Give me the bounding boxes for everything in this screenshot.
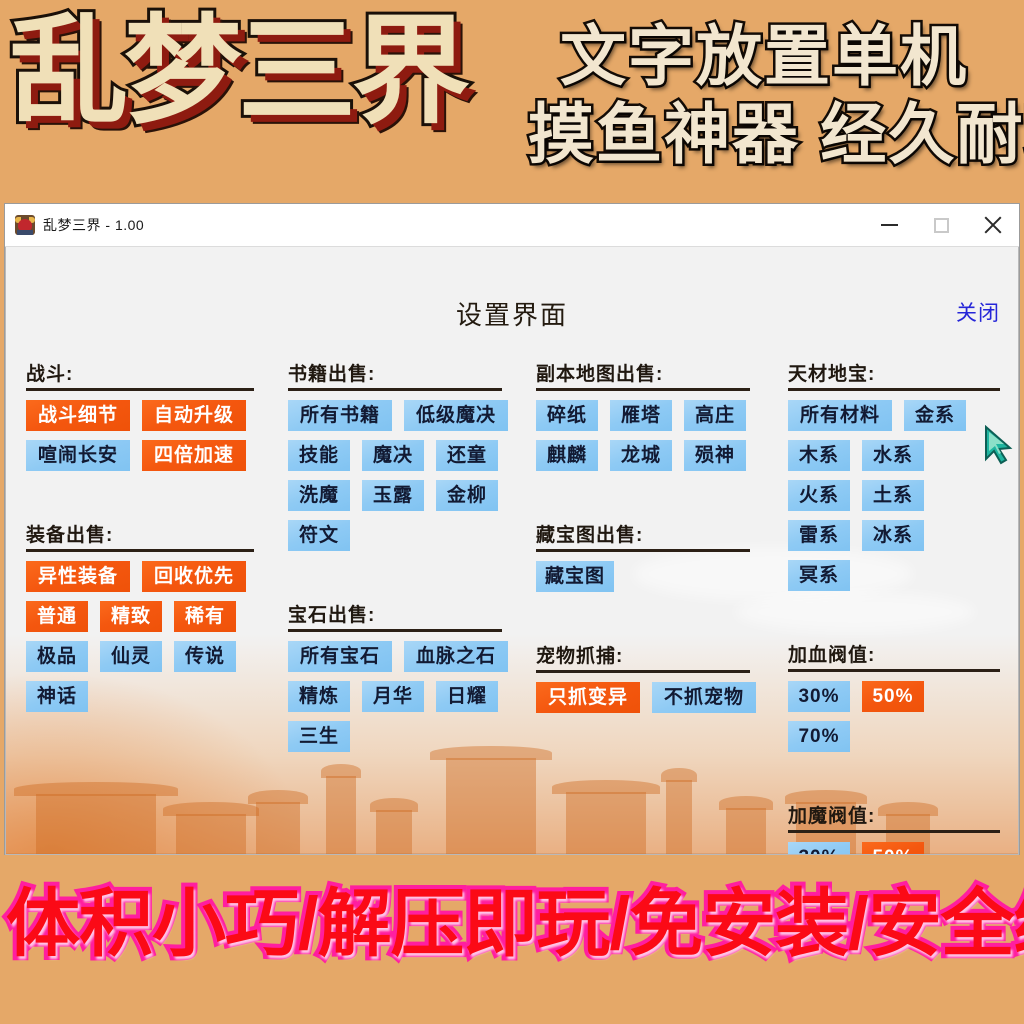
chip-noisy-changan[interactable]: 喧闹长安 <box>26 440 130 471</box>
section-divider <box>288 388 502 391</box>
app-window: 乱梦三界 - 1.00 <box>4 203 1020 855</box>
chip-ice-element[interactable]: 冰系 <box>862 520 924 551</box>
chip-legendary[interactable]: 传说 <box>174 641 236 672</box>
chip-row: 异性装备 回收优先 普通 精致 稀有 极品 仙灵 传说 神话 <box>26 561 288 721</box>
chip-earth-element[interactable]: 土系 <box>862 480 924 511</box>
chip-auto-upgrade[interactable]: 自动升级 <box>142 400 246 431</box>
minimize-button[interactable] <box>863 204 915 246</box>
section-mp-threshold: 加魔阀值: 30% 50% 70% <box>788 801 1006 855</box>
section-book-sale: 书籍出售: 所有书籍 低级魔决 技能 魔决 还童 洗魔 玉露 金柳 符文 <box>288 359 536 560</box>
chip-hp-50[interactable]: 50% <box>862 681 924 712</box>
section-title: 副本地图出售: <box>536 359 788 386</box>
section-title: 宝石出售: <box>288 600 536 627</box>
section-equipment-sale: 装备出售: 异性装备 回收优先 普通 精致 稀有 极品 仙灵 传说 神话 <box>26 520 288 721</box>
chip-quad-speed[interactable]: 四倍加速 <box>142 440 246 471</box>
section-title: 装备出售: <box>26 520 288 547</box>
section-battle: 战斗: 战斗细节 自动升级 喧闹长安 四倍加速 <box>26 359 288 480</box>
section-divider <box>788 830 1000 833</box>
close-button[interactable] <box>967 204 1019 246</box>
chip-water-element[interactable]: 水系 <box>862 440 924 471</box>
promo-banner-top: 乱梦三界 文字放置单机 摸鱼神器 经久耐玩 <box>0 0 1024 200</box>
chip-moonlight[interactable]: 月华 <box>362 681 424 712</box>
section-divider <box>536 388 750 391</box>
settings-columns: 战斗: 战斗细节 自动升级 喧闹长安 四倍加速 装备出售: 异 <box>6 359 1018 855</box>
chip-low-tier-spell[interactable]: 低级魔决 <box>404 400 508 431</box>
window-controls <box>863 204 1019 246</box>
chip-mythic[interactable]: 神话 <box>26 681 88 712</box>
section-title: 藏宝图出售: <box>536 520 788 547</box>
close-link[interactable]: 关闭 <box>956 297 1000 327</box>
chip-golden-willow[interactable]: 金柳 <box>436 480 498 511</box>
chip-no-pet-capture[interactable]: 不抓宠物 <box>652 682 756 713</box>
promo-tagline-1: 文字放置单机 <box>560 22 968 90</box>
chip-mp-30[interactable]: 30% <box>788 842 850 855</box>
settings-panel: 设置界面 关闭 战斗: 战斗细节 自动升级 喧闹长安 四倍 <box>5 247 1019 855</box>
section-title: 天材地宝: <box>788 359 1006 386</box>
settings-column-1: 战斗: 战斗细节 自动升级 喧闹长安 四倍加速 装备出售: 异 <box>26 359 288 855</box>
chip-wash-demon[interactable]: 洗魔 <box>288 480 350 511</box>
chip-fire-element[interactable]: 火系 <box>788 480 850 511</box>
section-divider <box>288 629 502 632</box>
chip-common[interactable]: 普通 <box>26 601 88 632</box>
chip-row: 只抓变异 不抓宠物 <box>536 682 788 722</box>
maximize-button[interactable] <box>915 204 967 246</box>
section-divider <box>536 549 750 552</box>
close-icon <box>983 215 1003 235</box>
section-hp-threshold: 加血阀值: 30% 50% 70% <box>788 640 1006 761</box>
chip-fine[interactable]: 精致 <box>100 601 162 632</box>
chip-superb[interactable]: 极品 <box>26 641 88 672</box>
chip-fallen-god[interactable]: 殒神 <box>684 440 746 471</box>
promo-features-text: 体积小巧/解压即玩/免安装/安全绿色 <box>6 878 1024 970</box>
chip-qilin[interactable]: 麒麟 <box>536 440 598 471</box>
chip-rare[interactable]: 稀有 <box>174 601 236 632</box>
chip-bloodline-stone[interactable]: 血脉之石 <box>404 641 508 672</box>
chip-mp-50[interactable]: 50% <box>862 842 924 855</box>
settings-column-4: 天材地宝: 所有材料 金系 木系 水系 火系 土系 雷系 冰系 冥系 <box>788 359 1006 855</box>
chip-hp-70[interactable]: 70% <box>788 721 850 752</box>
chip-metal-element[interactable]: 金系 <box>904 400 966 431</box>
chip-all-gems[interactable]: 所有宝石 <box>288 641 392 672</box>
section-pet-capture: 宠物抓捕: 只抓变异 不抓宠物 <box>536 641 788 722</box>
chip-sunshine[interactable]: 日耀 <box>436 681 498 712</box>
chip-rejuvenate[interactable]: 还童 <box>436 440 498 471</box>
chip-row: 所有宝石 血脉之石 精炼 月华 日耀 三生 <box>288 641 536 761</box>
chip-capture-mutant-only[interactable]: 只抓变异 <box>536 682 640 713</box>
chip-wood-element[interactable]: 木系 <box>788 440 850 471</box>
chip-three-lives[interactable]: 三生 <box>288 721 350 752</box>
chip-jade-dew[interactable]: 玉露 <box>362 480 424 511</box>
section-dungeon-map-sale: 副本地图出售: 碎纸 雁塔 高庄 麒麟 龙城 殒神 <box>536 359 788 480</box>
chip-rune[interactable]: 符文 <box>288 520 350 551</box>
promo-banner-bottom: 体积小巧/解压即玩/免安装/安全绿色 <box>0 860 1024 1024</box>
chip-shredded-paper[interactable]: 碎纸 <box>536 400 598 431</box>
screenshot-root: 乱梦三界 文字放置单机 摸鱼神器 经久耐玩 乱梦三界 - 1.00 <box>0 0 1024 1024</box>
chip-wild-goose-pagoda[interactable]: 雁塔 <box>610 400 672 431</box>
game-title-art: 乱梦三界 <box>10 12 466 132</box>
chip-row: 所有书籍 低级魔决 技能 魔决 还童 洗魔 玉露 金柳 符文 <box>288 400 536 560</box>
section-divider <box>26 549 254 552</box>
chip-hp-30[interactable]: 30% <box>788 681 850 712</box>
chip-row: 碎纸 雁塔 高庄 麒麟 龙城 殒神 <box>536 400 788 480</box>
section-title: 书籍出售: <box>288 359 536 386</box>
minimize-icon <box>881 224 898 226</box>
chip-skill[interactable]: 技能 <box>288 440 350 471</box>
section-title: 加血阀值: <box>788 640 1006 667</box>
chip-dark-element[interactable]: 冥系 <box>788 560 850 591</box>
chip-immortal[interactable]: 仙灵 <box>100 641 162 672</box>
promo-tagline-2: 摸鱼神器 经久耐玩 <box>528 100 1024 168</box>
settings-column-2: 书籍出售: 所有书籍 低级魔决 技能 魔决 还童 洗魔 玉露 金柳 符文 <box>288 359 536 855</box>
section-divider <box>536 670 750 673</box>
chip-all-books[interactable]: 所有书籍 <box>288 400 392 431</box>
window-title: 乱梦三界 - 1.00 <box>43 215 144 235</box>
chip-treasure-map[interactable]: 藏宝图 <box>536 561 614 592</box>
app-character-icon <box>15 215 35 235</box>
chip-battle-detail[interactable]: 战斗细节 <box>26 400 130 431</box>
window-titlebar[interactable]: 乱梦三界 - 1.00 <box>5 204 1019 247</box>
section-divider <box>788 388 1000 391</box>
page-title: 设置界面 <box>6 295 1018 332</box>
chip-row: 战斗细节 自动升级 喧闹长安 四倍加速 <box>26 400 288 480</box>
chip-opposite-gear[interactable]: 异性装备 <box>26 561 130 592</box>
chip-recycle-priority[interactable]: 回收优先 <box>142 561 246 592</box>
chip-row: 30% 50% 70% <box>788 681 1006 761</box>
chip-all-materials[interactable]: 所有材料 <box>788 400 892 431</box>
chip-row: 藏宝图 <box>536 561 788 601</box>
section-title: 加魔阀值: <box>788 801 1006 828</box>
chip-refine[interactable]: 精炼 <box>288 681 350 712</box>
chip-dragon-city[interactable]: 龙城 <box>610 440 672 471</box>
section-divider <box>788 669 1000 672</box>
maximize-icon <box>934 218 949 233</box>
settings-column-3: 副本地图出售: 碎纸 雁塔 高庄 麒麟 龙城 殒神 藏宝图出售: <box>536 359 788 855</box>
chip-gao-village[interactable]: 高庄 <box>684 400 746 431</box>
section-materials: 天材地宝: 所有材料 金系 木系 水系 火系 土系 雷系 冰系 冥系 <box>788 359 1006 600</box>
section-title: 宠物抓捕: <box>536 641 788 668</box>
section-gem-sale: 宝石出售: 所有宝石 血脉之石 精炼 月华 日耀 三生 <box>288 600 536 761</box>
section-divider <box>26 388 254 391</box>
section-treasure-map-sale: 藏宝图出售: 藏宝图 <box>536 520 788 601</box>
chip-spell[interactable]: 魔决 <box>362 440 424 471</box>
chip-row: 30% 50% 70% <box>788 842 1006 855</box>
chip-row: 所有材料 金系 木系 水系 火系 土系 雷系 冰系 冥系 <box>788 400 1006 600</box>
chip-thunder-element[interactable]: 雷系 <box>788 520 850 551</box>
section-title: 战斗: <box>26 359 288 386</box>
